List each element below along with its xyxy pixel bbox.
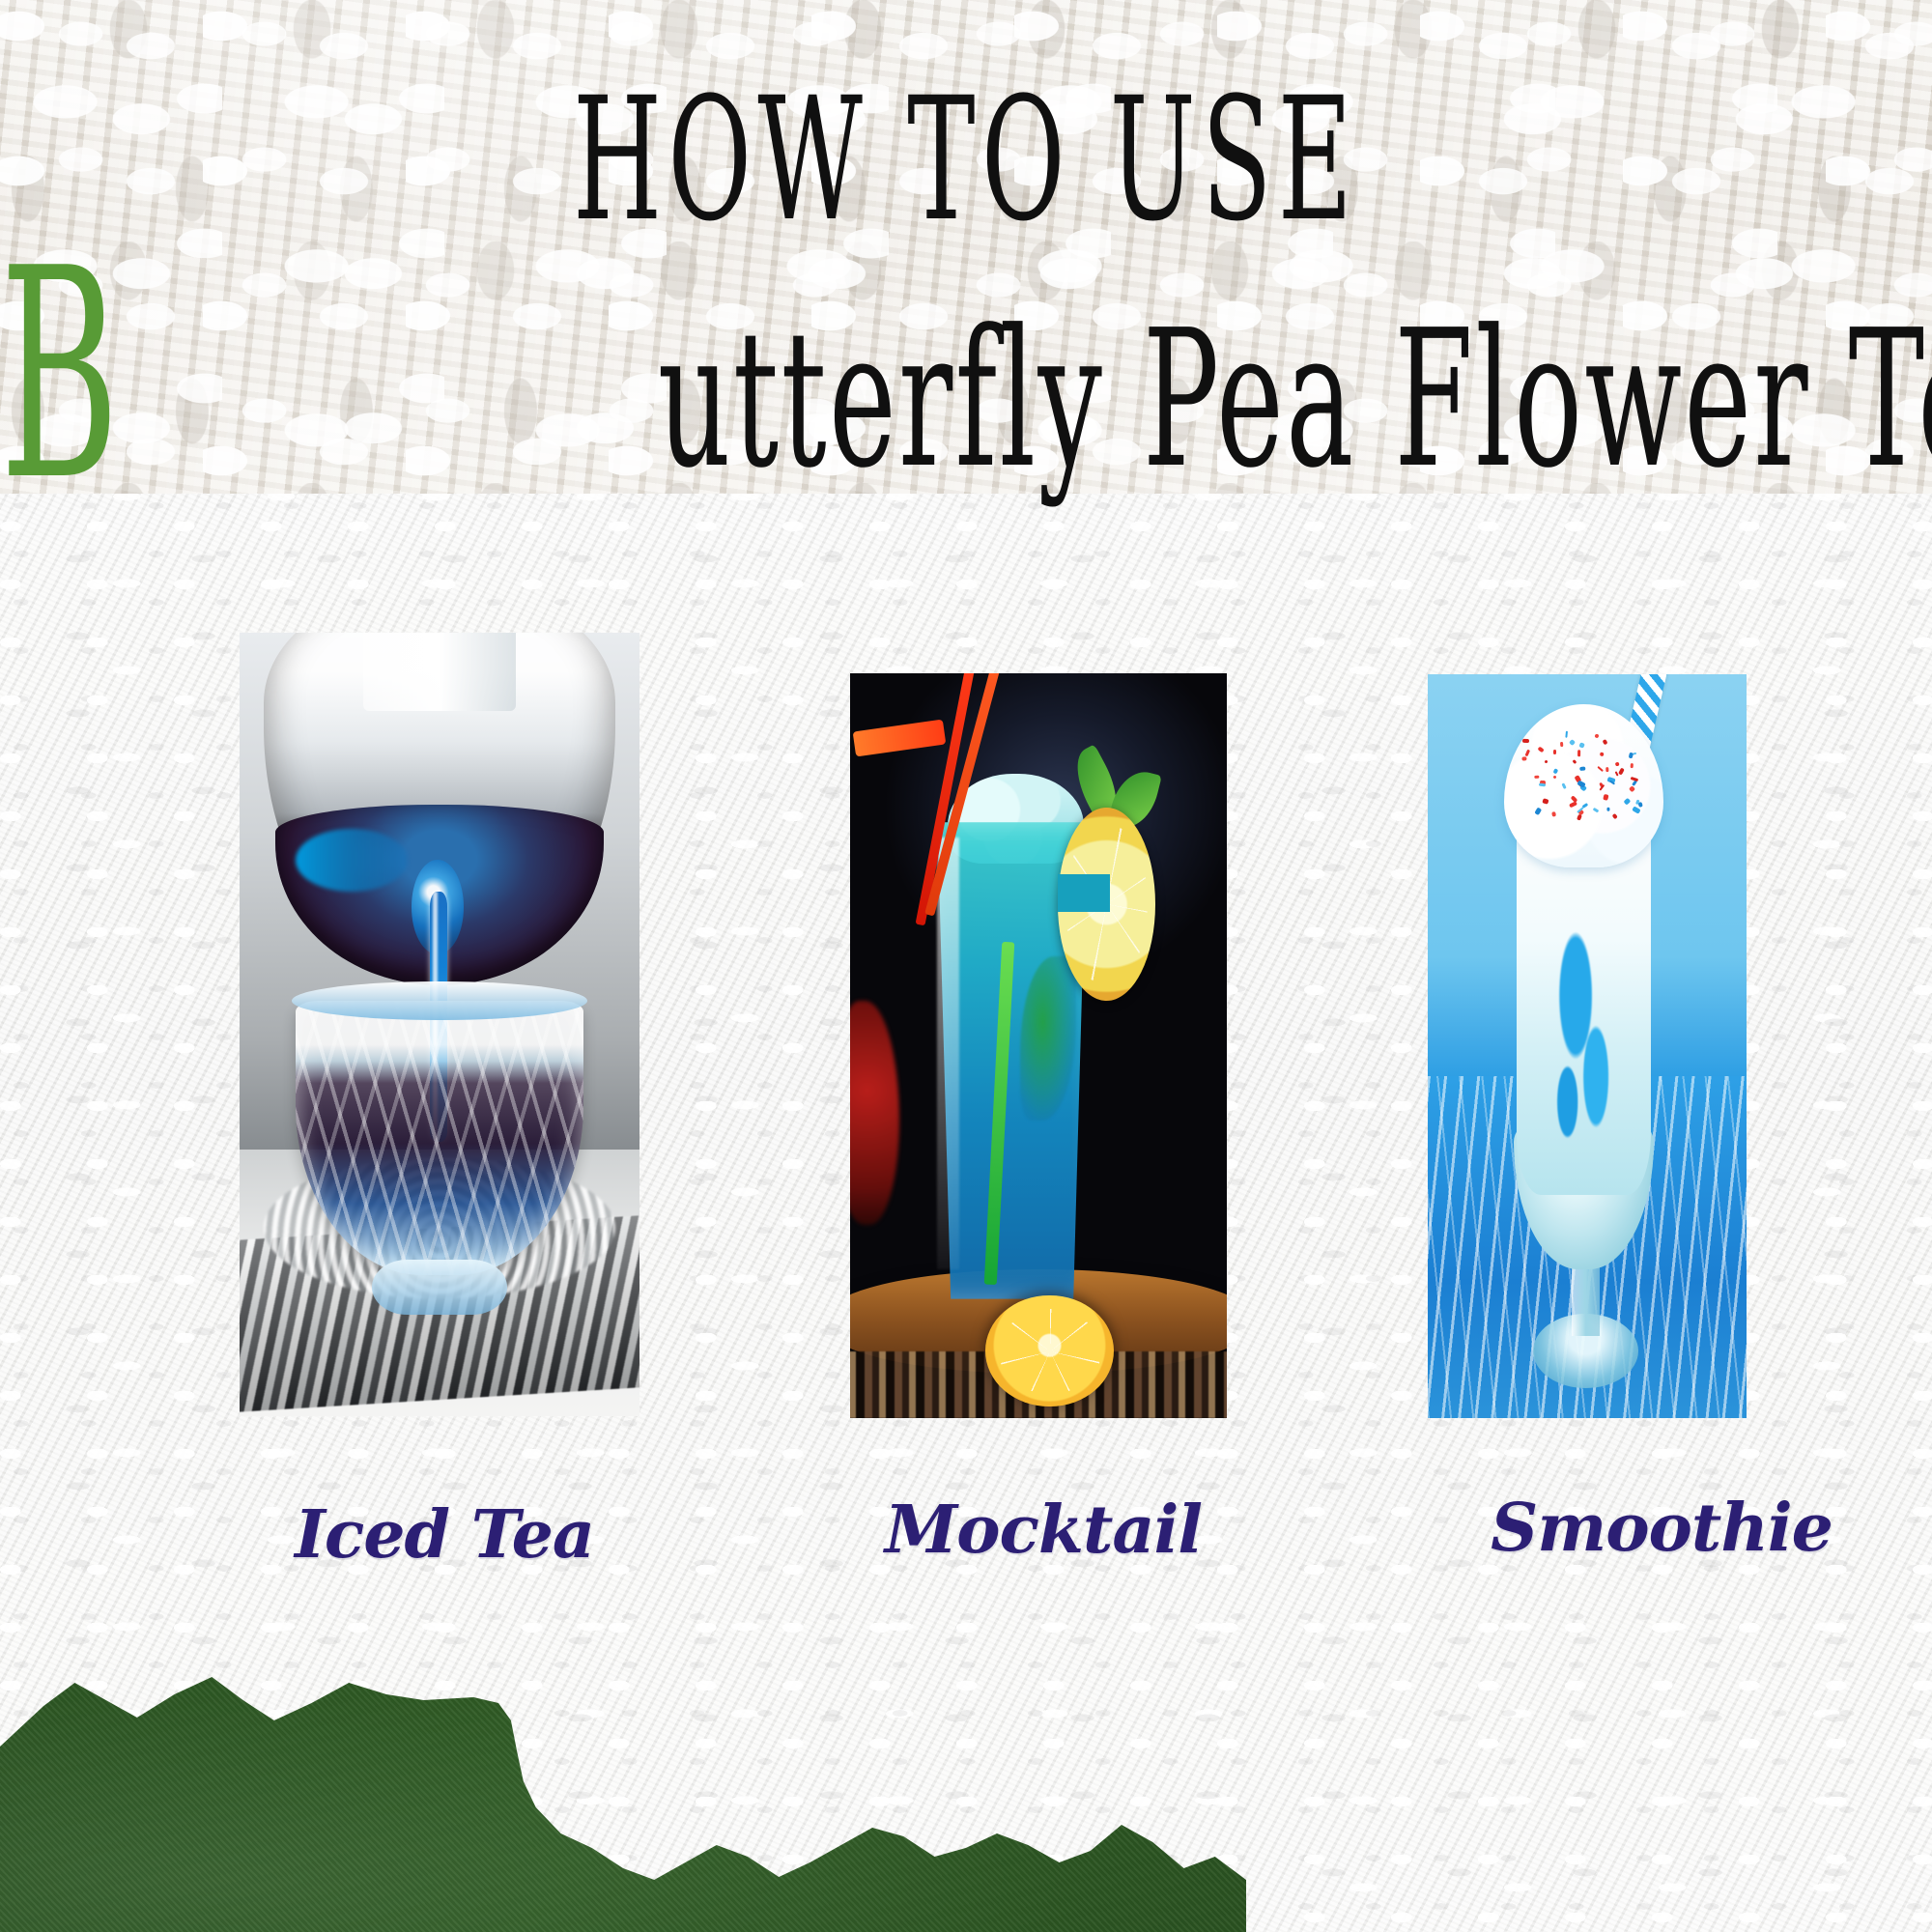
sprinkles — [1511, 719, 1658, 845]
iced-tea-photo — [240, 633, 639, 1416]
headline-line-2: Butterfly Pea Flower Tea? — [0, 257, 1932, 495]
headline-block: HOW TO USE Butterfly Pea Flower Tea? — [0, 0, 1932, 541]
crystal-cup-shape — [296, 1001, 583, 1275]
blue-swirl — [1533, 920, 1635, 1173]
caption-smoothie: Smoothie — [1391, 1495, 1932, 1561]
poster-canvas: HOW TO USE Butterfly Pea Flower Tea? — [0, 0, 1932, 1932]
mocktail-photo — [850, 673, 1227, 1418]
photo-card-smoothie[interactable] — [1428, 674, 1747, 1418]
caption-iced-tea: Iced Tea — [174, 1502, 715, 1568]
headline-line-1: HOW TO USE — [0, 75, 1932, 245]
smoothie-photo — [1428, 674, 1747, 1418]
caption-mocktail: Mocktail — [734, 1497, 1352, 1563]
lemon-slice — [985, 1295, 1114, 1407]
photo-card-mocktail[interactable] — [850, 673, 1227, 1418]
photo-card-iced-tea[interactable] — [240, 633, 639, 1416]
headline-line-1-text: HOW TO USE — [573, 75, 1358, 245]
headline-dropcap-letter: B — [0, 257, 119, 495]
headline-line-2-text: utterfly Pea Flower Tea? — [658, 305, 1932, 495]
